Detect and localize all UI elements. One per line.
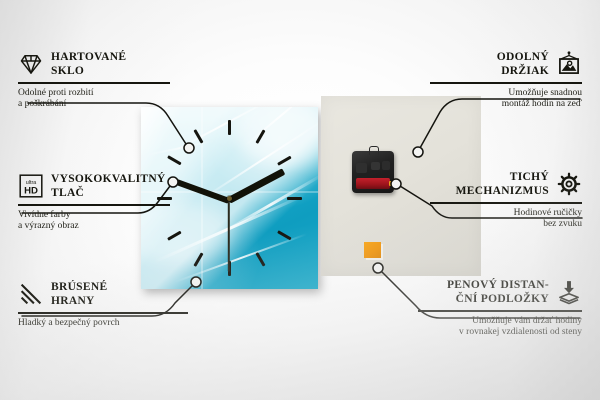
diamond-icon — [18, 51, 44, 77]
feature-ground-edges: BRÚSENÉ HRANY Hladký a bezpečný povrch — [18, 280, 188, 329]
battery — [356, 178, 390, 189]
gear-icon — [556, 171, 582, 197]
feature-title: VYSOKOKVALITNÝ TLAČ — [51, 172, 166, 200]
feature-title: ODOLNÝ DRŽIAK — [497, 50, 549, 78]
hour-hand — [227, 168, 285, 203]
feature-subtitle: Hodinové ručičky bez zvuku — [430, 208, 582, 231]
feature-subtitle: Umožňuje vám držať hodiny v rovnakej vzd… — [418, 316, 582, 339]
clock-tick — [287, 197, 302, 200]
feature-header: TICHÝ MECHANIZMUS — [430, 170, 582, 198]
foam-spacer-pad — [364, 242, 381, 258]
mechanism-hook — [369, 146, 379, 155]
mechanism-detail — [356, 163, 367, 173]
feature-silent-mechanism: TICHÝ MECHANIZMUS Hodinové ručičky — [430, 170, 582, 231]
minute-hand — [172, 178, 230, 204]
feature-divider — [18, 82, 170, 84]
feature-tempered-glass: HARTOVANÉ SKLO Odolné proti rozbití a po… — [18, 50, 170, 111]
feature-subtitle: Umožňuje snadnou montáž hodin na zeď — [430, 88, 582, 111]
feature-high-quality-print: ultra HD VYSOKOKVALITNÝ TLAČ Vivídne far… — [18, 172, 170, 233]
mechanism-detail — [382, 161, 390, 170]
svg-text:HD: HD — [24, 185, 38, 196]
feature-header: ODOLNÝ DRŽIAK — [430, 50, 582, 78]
picture-hanger-icon — [556, 51, 582, 77]
feature-title: TICHÝ MECHANIZMUS — [456, 170, 549, 198]
feature-header: ultra HD VYSOKOKVALITNÝ TLAČ — [18, 172, 170, 200]
feature-title: PENOVÝ DISTAN- ČNÍ PODLOŽKY — [447, 278, 549, 306]
clock-tick — [193, 252, 203, 266]
clock-tick — [167, 156, 181, 166]
infographic-canvas: HARTOVANÉ SKLO Odolné proti rozbití a po… — [0, 0, 600, 400]
feature-subtitle: Vivídne farby a výrazný obraz — [18, 210, 170, 233]
clock-tick — [255, 129, 265, 143]
clock-centre-pin — [227, 196, 232, 201]
feature-title: BRÚSENÉ HRANY — [51, 280, 107, 308]
feature-divider — [18, 312, 188, 314]
feature-divider — [18, 204, 170, 206]
feature-durable-holder: ODOLNÝ DRŽIAK Umožňuje snadnou montáž ho… — [430, 50, 582, 111]
feature-divider — [430, 202, 582, 204]
clock-tick — [277, 231, 291, 241]
feature-header: PENOVÝ DISTAN- ČNÍ PODLOŽKY — [418, 278, 582, 306]
clock-tick — [228, 120, 231, 135]
feature-header: HARTOVANÉ SKLO — [18, 50, 170, 78]
clock-tick — [193, 129, 203, 143]
second-hand — [228, 200, 230, 272]
feature-header: BRÚSENÉ HRANY — [18, 280, 188, 308]
clock-tick — [255, 252, 265, 266]
ground-edges-icon — [18, 281, 44, 307]
mechanism-detail — [371, 162, 380, 170]
ultra-hd-icon: ultra HD — [18, 173, 44, 199]
feature-divider — [430, 82, 582, 84]
feature-subtitle: Odolné proti rozbití a poškrábání — [18, 88, 170, 111]
feature-divider — [418, 310, 582, 312]
feature-subtitle: Hladký a bezpečný povrch — [18, 318, 188, 330]
feature-foam-spacers: PENOVÝ DISTAN- ČNÍ PODLOŽKY Umožňuje vám… — [418, 278, 582, 339]
feature-title: HARTOVANÉ SKLO — [51, 50, 126, 78]
clock-tick — [277, 156, 291, 166]
foam-spacer-icon — [556, 279, 582, 305]
clock-mechanism — [352, 151, 394, 193]
